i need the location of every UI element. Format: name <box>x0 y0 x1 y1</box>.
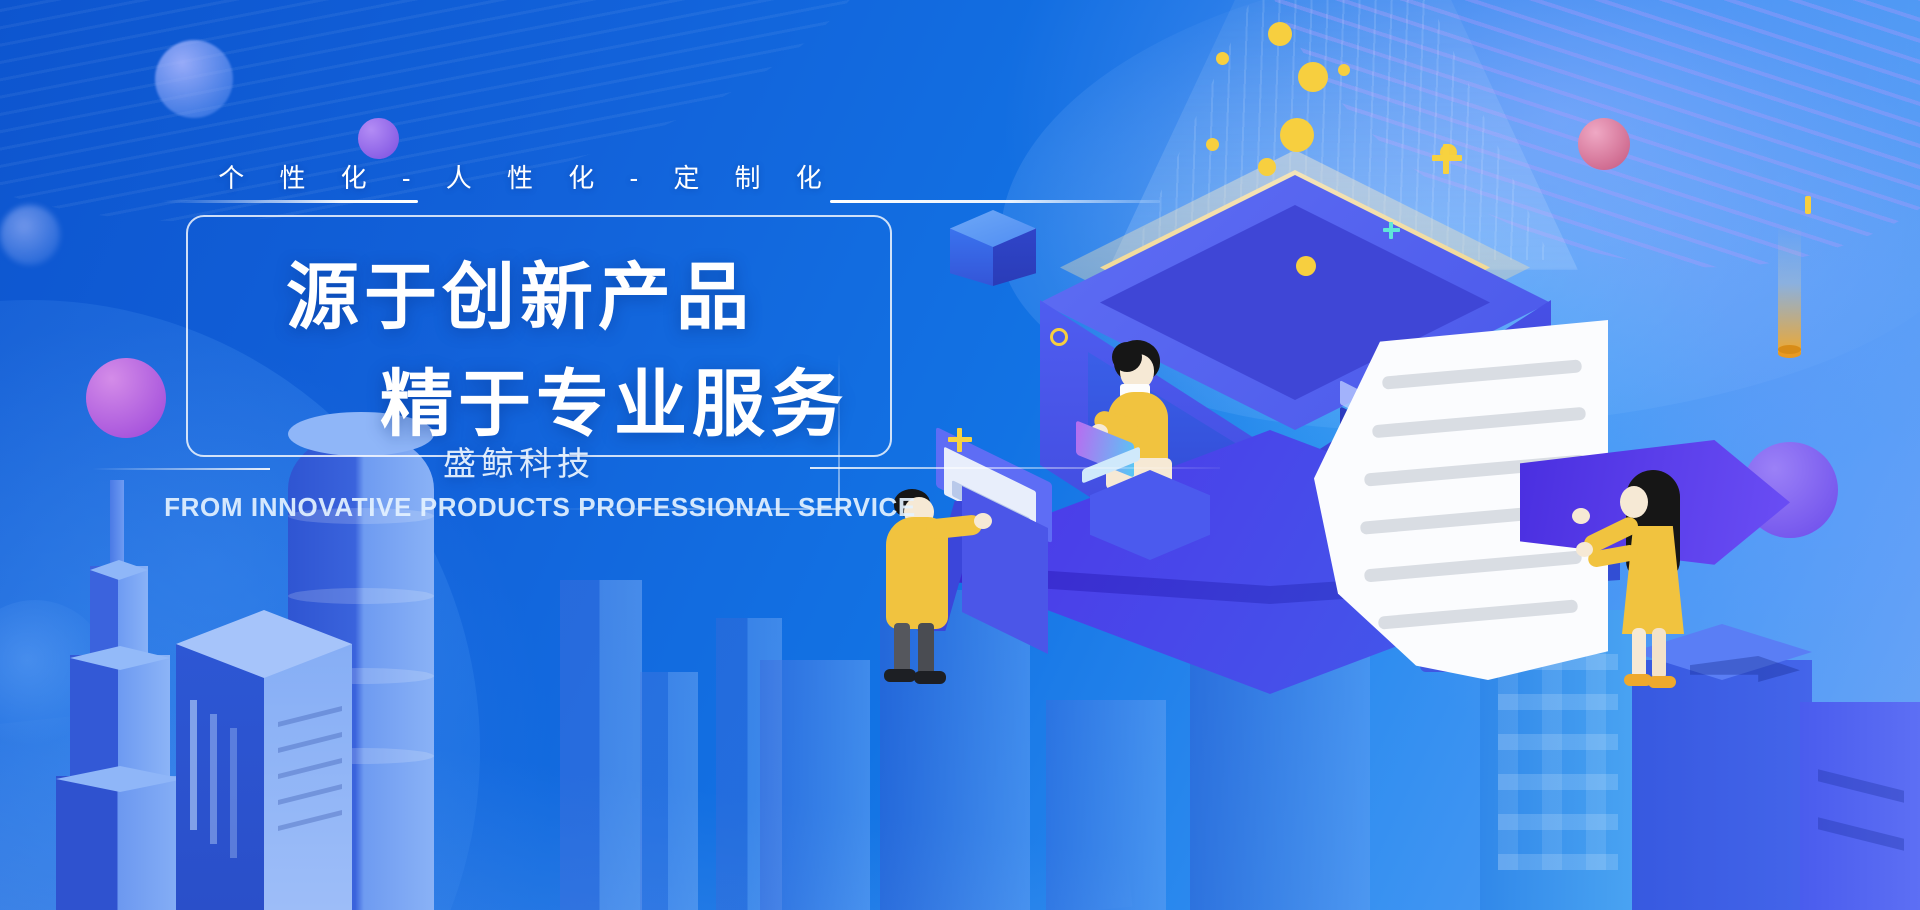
standing-woman-at-document <box>1590 470 1720 690</box>
leg <box>1632 628 1646 680</box>
yellow-dot <box>1206 138 1219 151</box>
isometric-machine-illustration <box>940 0 1920 910</box>
company-name: 盛鲸科技 <box>0 437 1038 485</box>
seat-block <box>1090 470 1210 560</box>
tagline: 个 性 化 - 人 性 化 - 定 制 化 <box>0 158 1040 195</box>
shoe <box>1648 676 1676 688</box>
shoe <box>884 669 916 682</box>
hand <box>1576 542 1593 557</box>
yellow-dot <box>1296 256 1316 276</box>
yellow-dot <box>1268 22 1292 46</box>
building-slim-b <box>640 672 698 910</box>
building-slim-a <box>560 580 642 910</box>
frame-gap-top <box>252 206 572 226</box>
face <box>1620 486 1648 518</box>
yellow-dot <box>1216 52 1229 65</box>
headline-line-1: 源于创新产品 <box>0 238 1040 344</box>
frame-accent-line-top-left <box>162 200 418 203</box>
yellow-dot <box>1298 62 1328 92</box>
shoe <box>914 671 946 684</box>
yellow-dot <box>1258 158 1276 176</box>
yellow-tick <box>1805 196 1811 214</box>
hand <box>1572 508 1590 524</box>
leg <box>1652 628 1666 680</box>
plus-icon-small <box>1383 222 1400 239</box>
english-tagline: FROM INNOVATIVE PRODUCTS PROFESSIONAL SE… <box>0 492 1080 523</box>
yellow-dot <box>1280 118 1314 152</box>
leg <box>894 623 910 675</box>
frame-accent-line-top-right <box>830 200 1160 203</box>
yellow-cylinder <box>1778 285 1801 367</box>
hair-front <box>1112 342 1142 372</box>
yellow-ring <box>1050 328 1068 346</box>
building-window-block <box>176 610 352 910</box>
yellow-dot <box>1338 64 1350 76</box>
plus-icon <box>1432 144 1462 174</box>
hero-banner: 个 性 化 - 人 性 化 - 定 制 化 源于创新产品 精于专业服务 盛鲸科技… <box>0 0 1920 910</box>
text-block: 个 性 化 - 人 性 化 - 定 制 化 源于创新产品 精于专业服务 盛鲸科技… <box>0 0 1040 620</box>
leg <box>918 623 934 675</box>
headline-line-2: 精于专业服务 <box>0 345 1040 451</box>
